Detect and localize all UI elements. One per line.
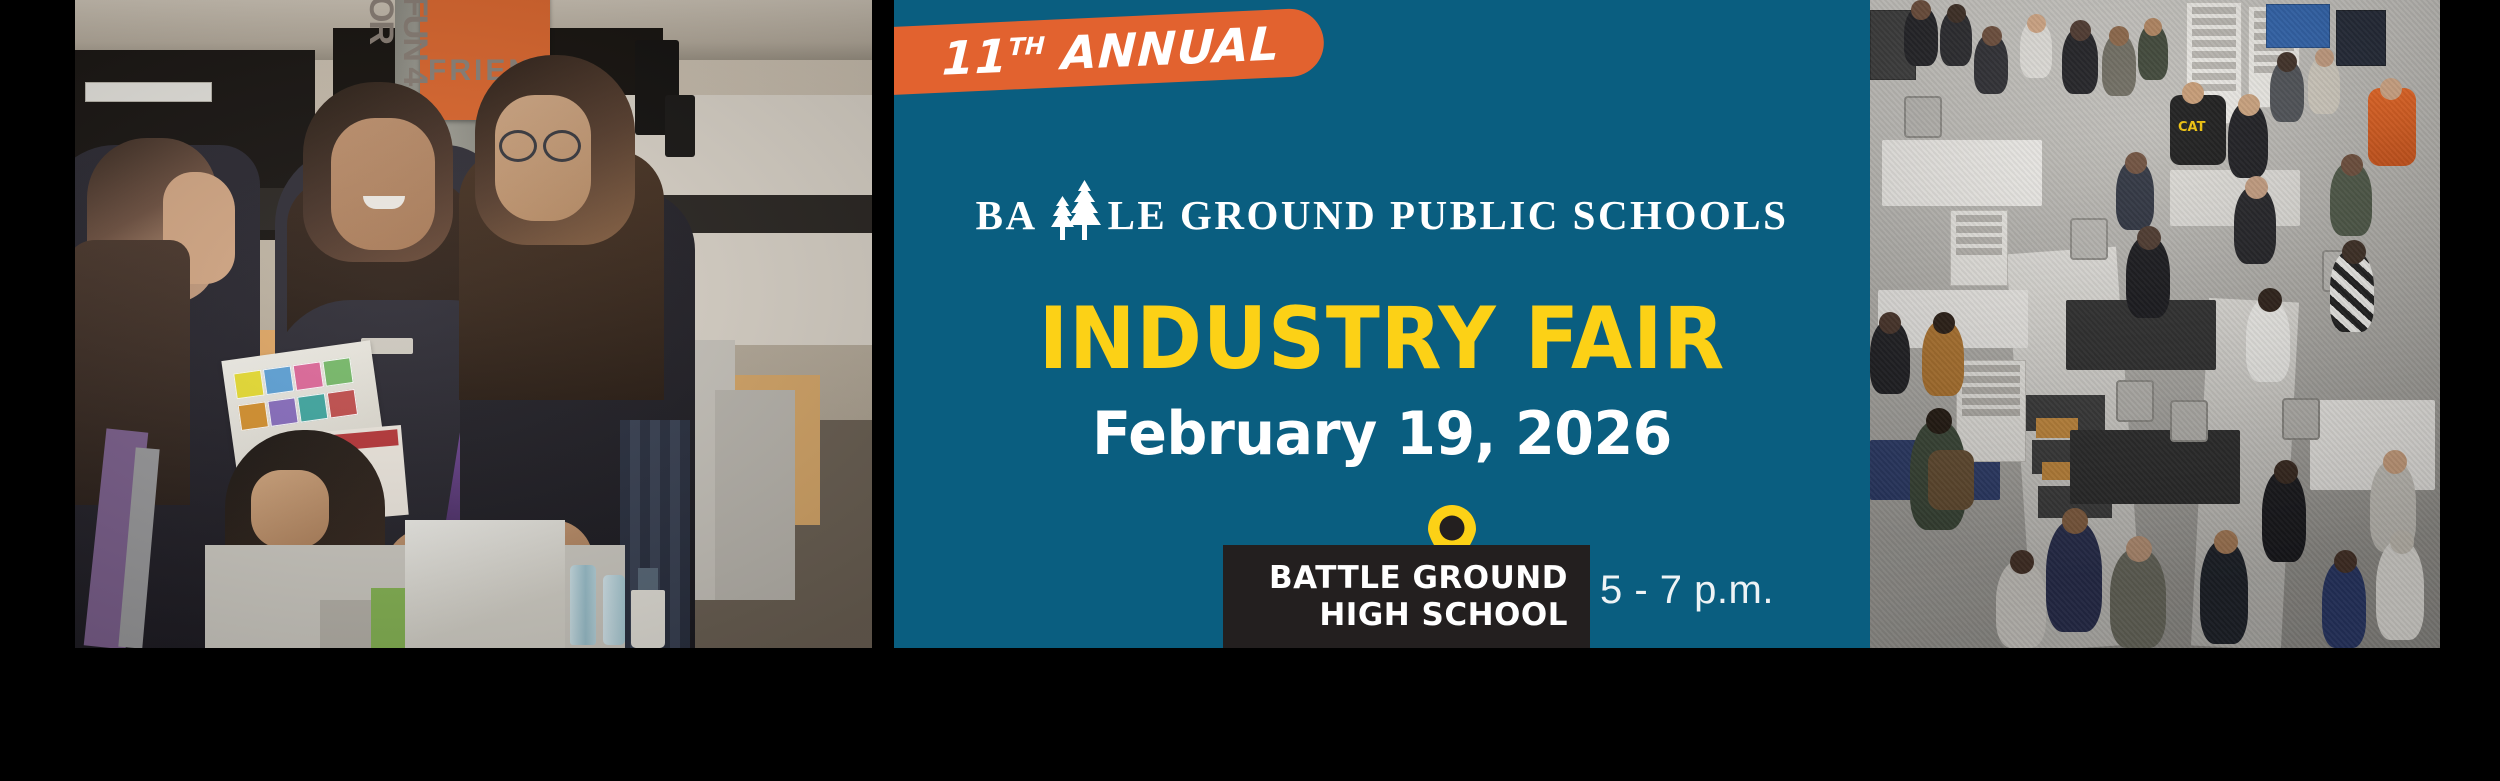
eyeglass-lens-left: [499, 130, 537, 162]
speaker-lower: [665, 95, 695, 157]
swag-bag: GROUND DISTRICT: [405, 520, 565, 648]
photo-left-career-fair-conversation: FUN 4 OR FRIENDS: [75, 0, 872, 648]
eyeglasses-icon: [499, 130, 579, 156]
venue-line-2: HIGH SCHOOL: [1319, 597, 1568, 634]
annual-ordinal-suffix: TH: [1008, 32, 1046, 62]
brochure-swatch-8: [327, 389, 358, 419]
photo-right-fair-crowd-overhead: CAT: [1870, 0, 2440, 648]
brochure-swatch-1: [233, 370, 264, 400]
pen-cup: [631, 590, 665, 648]
poster-stage: FUN 4 OR FRIENDS: [0, 0, 2500, 781]
eyeglass-lens-right: [543, 130, 581, 162]
district-name-part-2: LE GROUND PUBLIC SCHOOLS: [1108, 195, 1789, 236]
brochure-swatch-5: [238, 401, 269, 431]
annual-ordinal: 11: [941, 29, 1009, 86]
annual-word: ANNUAL: [1060, 16, 1281, 80]
photo-right-vignette: [1870, 0, 2440, 648]
water-bottle-1: [570, 565, 596, 645]
brochure-swatch-3: [293, 361, 324, 391]
booth-divider-gray-2: [715, 390, 795, 600]
district-name-part-1: BA: [976, 195, 1038, 236]
page-title: INDUSTRY FAIR: [933, 296, 1831, 382]
brochure-swatch-4: [322, 357, 353, 387]
venue-row: BATTLE GROUND HIGH SCHOOL 5 - 7 p.m.: [894, 500, 1870, 648]
wall-light-fixture: [85, 82, 212, 102]
event-date: February 19, 2026: [918, 404, 1845, 464]
venue-badge: BATTLE GROUND HIGH SCHOOL: [1223, 545, 1590, 648]
annual-ribbon: 11TH ANNUAL: [894, 7, 1325, 96]
table-item-gray-box: [320, 600, 372, 648]
event-time: 5 - 7 p.m.: [1600, 568, 1774, 613]
person-exhibitor-face: [331, 118, 435, 250]
person-seated-hand: [251, 470, 329, 548]
brochure-swatch-6: [267, 397, 298, 427]
brochure-swatch-2: [263, 365, 294, 395]
district-name: BA LE GROUND PUBLIC SCHOOLS: [894, 178, 1870, 236]
brochure-swatch-7: [297, 393, 328, 423]
person-exhibitor-smile: [363, 196, 405, 209]
pine-trees-icon: [1036, 178, 1110, 236]
annual-ribbon-label: 11TH ANNUAL: [941, 20, 1281, 81]
water-bottle-2: [603, 575, 625, 645]
event-banner-panel: 11TH ANNUAL BA LE GROU: [894, 0, 1870, 648]
venue-line-1: BATTLE GROUND: [1269, 560, 1568, 597]
